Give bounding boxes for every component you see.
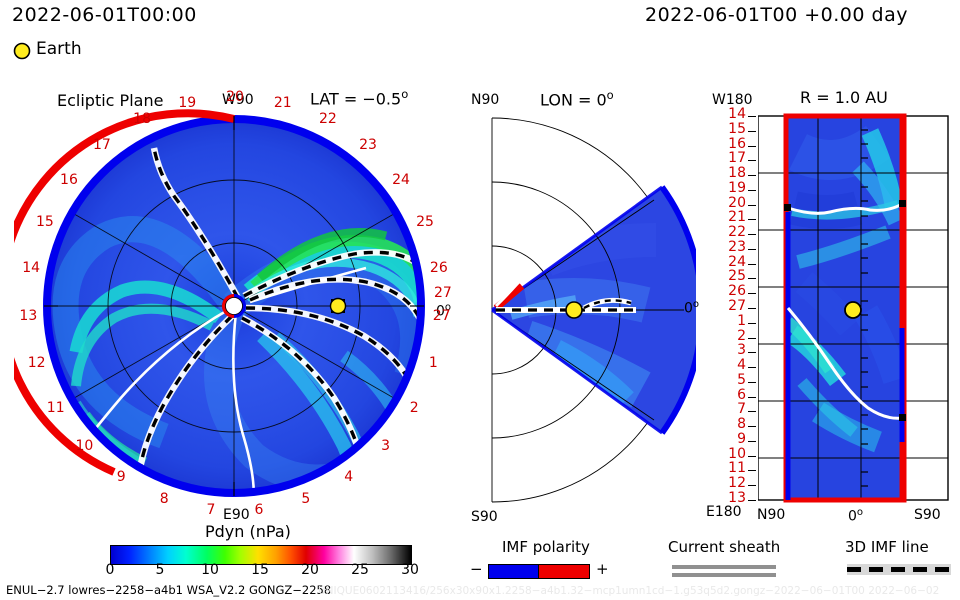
fixed-radius-y-tick: 3: [737, 343, 746, 357]
fixed-radius-y-tickmark: [748, 190, 756, 191]
colorbar-tick: 10: [198, 563, 222, 577]
ecliptic-lat-label: LAT = −0.5o: [310, 89, 408, 107]
fixed-radius-y-tick: 25: [728, 269, 746, 283]
colorbar-tick: 25: [348, 563, 372, 577]
fixed-radius-y-tick: 1: [737, 314, 746, 328]
colorbar-tick: 5: [148, 563, 172, 577]
cs-endpoint-left: [784, 204, 791, 211]
fixed-radius-y-tick: 26: [728, 284, 746, 298]
colorbar-tick: 0: [98, 563, 122, 577]
panel-meridional: [466, 100, 696, 520]
fixed-radius-y-tick: 17: [728, 151, 746, 165]
meridional-title: LON = 0o: [540, 90, 614, 108]
ecliptic-panel-title: Ecliptic Plane: [57, 93, 163, 109]
fixed-radius-y-tick: 16: [728, 137, 746, 151]
colorbar-tick: 15: [248, 563, 272, 577]
fixed-radius-y-tickmark: [748, 160, 756, 161]
current-sheath-bar-2: [672, 573, 776, 577]
earth-legend: Earth: [12, 40, 212, 62]
fixed-radius-y-tickmark: [748, 338, 756, 339]
fixed-radius-title: R = 1.0 AU: [800, 90, 888, 106]
fixed-radius-y-tickmark: [748, 219, 756, 220]
fixed-radius-xtick-n90: N90: [757, 508, 785, 522]
fixed-radius-y-tick: 5: [737, 373, 746, 387]
earth-marker-meridional: [566, 302, 582, 318]
panel-ecliptic-plane: [14, 86, 454, 526]
cs-endpoint-right: [899, 200, 906, 207]
fixed-radius-y-tickmark: [748, 205, 756, 206]
fixed-radius-y-tickmark: [748, 278, 756, 279]
fixed-radius-y-tickmark: [748, 397, 756, 398]
fixed-radius-y-tickmark: [748, 234, 756, 235]
fixed-radius-bottom-label: E180: [706, 505, 742, 519]
fixed-radius-y-tick: 19: [728, 181, 746, 195]
header-left-datetime: 2022-06-01T00:00: [12, 6, 197, 25]
imf-line-3d-title: 3D IMF line: [845, 540, 929, 555]
fixed-radius-y-tick: 6: [737, 388, 746, 402]
cs-endpoint-right-lower: [899, 414, 906, 421]
ecliptic-bottom-label: E90: [223, 508, 250, 522]
meridional-right-label: 0o: [684, 300, 699, 316]
fixed-radius-y-tickmark: [748, 470, 756, 471]
meridional-top-label: N90: [471, 93, 499, 107]
fixed-radius-y-tick: 20: [728, 196, 746, 210]
imf-polarity-negative-swatch: [488, 564, 540, 579]
fixed-radius-y-tickmark: [748, 500, 756, 501]
fixed-radius-y-tickmark: [748, 441, 756, 442]
ecliptic-right-label: 0o: [436, 303, 451, 319]
fixed-radius-y-tickmark: [748, 411, 756, 412]
ecliptic-top-label: W90: [222, 93, 254, 107]
imf-line-3d-dash: [847, 567, 951, 572]
fixed-radius-y-tick: 27: [728, 299, 746, 313]
fixed-radius-y-tickmark: [748, 456, 756, 457]
fixed-radius-y-tickmark: [748, 323, 756, 324]
fixed-radius-y-tickmark: [748, 146, 756, 147]
ecliptic-right-hour: 27: [434, 286, 452, 300]
fixed-radius-y-tick: 23: [728, 240, 746, 254]
fixed-radius-y-tick: 13: [728, 491, 746, 505]
legend-current-sheath: Current sheath: [668, 540, 798, 585]
fixed-radius-y-tickmark: [748, 367, 756, 368]
sun-marker: [222, 294, 246, 318]
colorbar-tick: 20: [298, 563, 322, 577]
fixed-radius-y-tick: 24: [728, 255, 746, 269]
footer-watermark: UNIQUE0602113416/256x30x90x1.2258−a4b1.3…: [318, 586, 939, 597]
fixed-radius-y-tick-labels: 1415161718192021222324252627123456789101…: [700, 112, 758, 504]
fixed-radius-y-tick: 21: [728, 210, 746, 224]
fixed-radius-y-tickmark: [748, 382, 756, 383]
fixed-radius-y-tickmark: [748, 175, 756, 176]
fixed-radius-y-tick: 15: [728, 122, 746, 136]
imf-polarity-plus: +: [596, 562, 609, 577]
fixed-radius-y-tick: 10: [728, 447, 746, 461]
earth-marker-fixed-radius: [845, 302, 861, 318]
fixed-radius-y-tick: 7: [737, 402, 746, 416]
meridional-bottom-label: S90: [471, 510, 498, 524]
fixed-radius-y-tickmark: [748, 249, 756, 250]
fixed-radius-y-tickmark: [748, 131, 756, 132]
fixed-radius-y-tick: 14: [728, 107, 746, 121]
legend-imf-line-3d: 3D IMF line: [845, 540, 960, 585]
imf-polarity-positive-swatch: [538, 564, 590, 579]
fixed-radius-y-tick: 12: [728, 476, 746, 490]
header-right-datetime: 2022-06-01T00 +0.00 day: [645, 6, 908, 25]
fixed-radius-y-tick: 2: [737, 329, 746, 343]
imf-polarity-title: IMF polarity: [502, 540, 590, 555]
fixed-radius-y-tickmark: [748, 116, 756, 117]
fixed-radius-y-tick: 4: [737, 358, 746, 372]
colorbar-tick-labels: 051015202530: [110, 563, 410, 583]
fixed-radius-y-tickmark: [748, 264, 756, 265]
fixed-radius-y-tickmark: [748, 293, 756, 294]
imf-polarity-minus: −: [470, 562, 483, 577]
fixed-radius-y-tick: 9: [737, 432, 746, 446]
fixed-radius-y-tick: 8: [737, 417, 746, 431]
fixed-radius-y-tick: 22: [728, 225, 746, 239]
colorbar-title: Pdyn (nPa): [205, 524, 291, 540]
earth-icon: [15, 44, 30, 59]
fixed-radius-xtick-s90: S90: [914, 508, 941, 522]
fixed-radius-top-label: W180: [712, 93, 753, 107]
legend-imf-polarity: IMF polarity − +: [470, 540, 650, 585]
fixed-radius-y-tickmark: [748, 485, 756, 486]
fixed-radius-xtick-zero: 0o: [848, 508, 863, 524]
earth-legend-label: Earth: [36, 41, 82, 58]
fixed-radius-y-tickmark: [748, 352, 756, 353]
fixed-radius-y-tickmark: [748, 308, 756, 309]
current-sheath-bar-1: [672, 565, 776, 569]
footer-run-id: ENUL−2.7 lowres−2258−a4b1 WSA_V2.2 GONGZ…: [6, 585, 331, 597]
fixed-radius-y-tick: 11: [728, 461, 746, 475]
earth-marker-ecliptic: [331, 299, 346, 314]
fixed-radius-y-tick: 18: [728, 166, 746, 180]
colorbar-tick: 30: [398, 563, 422, 577]
panel-fixed-radius: [758, 112, 960, 504]
fixed-radius-y-tickmark: [748, 426, 756, 427]
current-sheath-title: Current sheath: [668, 540, 780, 555]
